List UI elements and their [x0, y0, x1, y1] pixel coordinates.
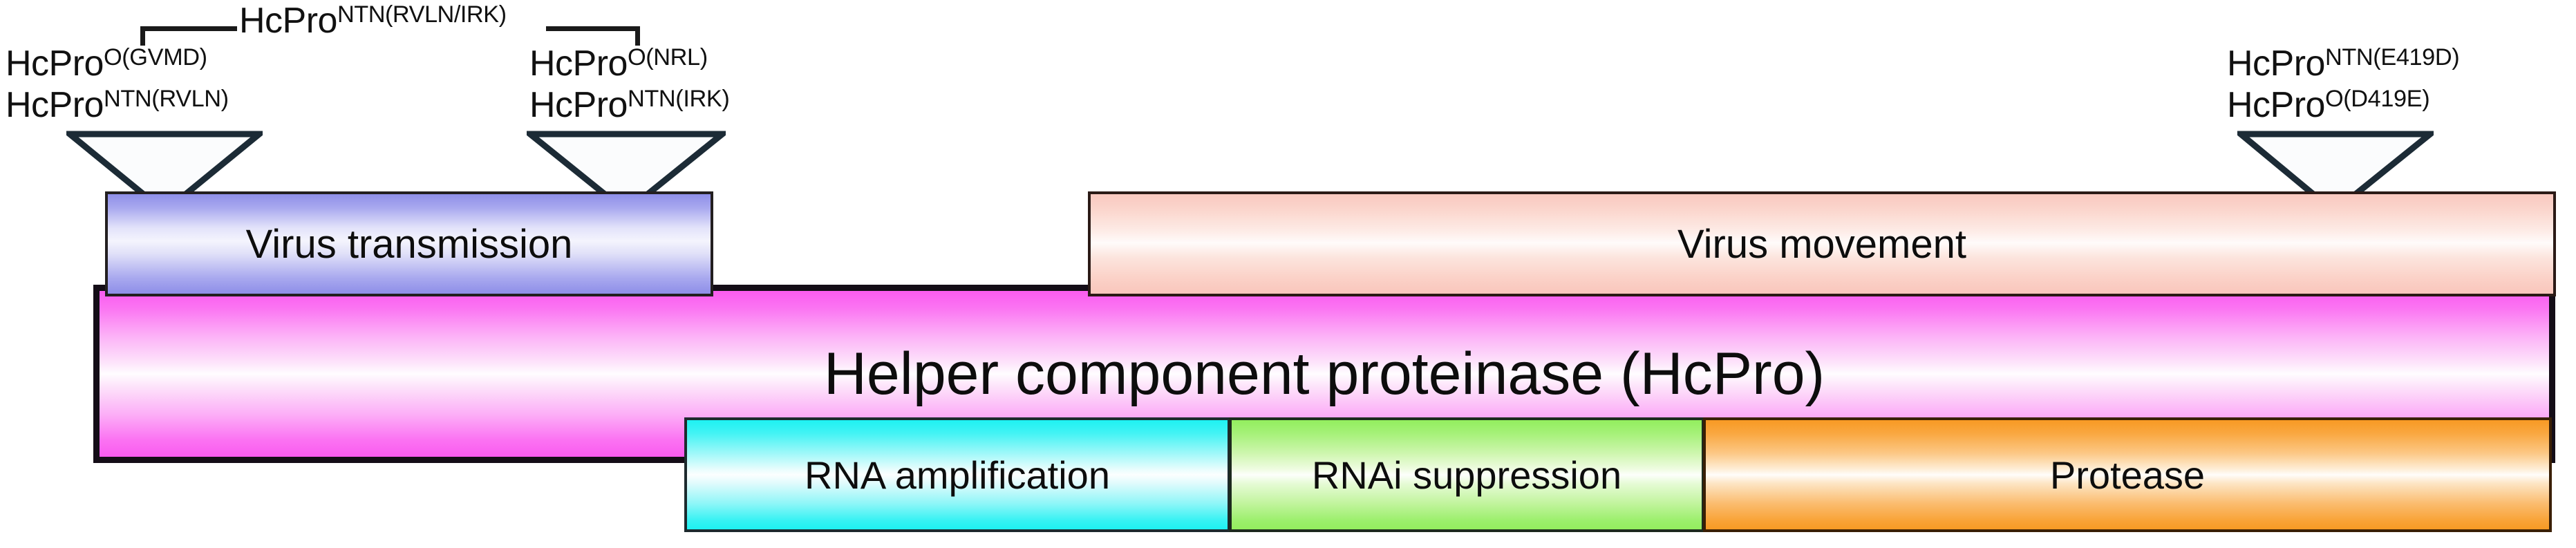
label-sup: NTN(RVLN) — [104, 86, 229, 112]
main-hcpro-bar-label: Helper component proteinase (HcPro) — [824, 340, 1825, 408]
domain-virus-transmission: Virus transmission — [105, 191, 713, 296]
label-sup: NTN(IRK) — [628, 86, 729, 112]
label-sup: O(NRL) — [628, 44, 708, 70]
mutation-label-middle-line2: HcProNTN(IRK) — [529, 84, 729, 126]
label-base: HcPro — [2227, 85, 2325, 125]
domain-rna-amplification: RNA amplification — [684, 417, 1230, 532]
mutation-label-right-line2: HcProO(D419E) — [2227, 84, 2429, 126]
domain-virus-transmission-label: Virus transmission — [246, 221, 573, 267]
domain-protease: Protease — [1703, 417, 2552, 532]
label-base: HcPro — [6, 85, 104, 125]
domain-rnai-suppression: RNAi suppression — [1229, 417, 1704, 532]
label-sup: NTN(E419D) — [2325, 44, 2459, 70]
label-sup: O(GVMD) — [104, 44, 207, 70]
hcpro-domain-diagram: HcProNTN(RVLN/IRK) HcProO(GVMD) HcProNTN… — [0, 0, 2576, 548]
bracket-label-sup: NTN(RVLN/IRK) — [337, 1, 507, 28]
bracket-horizontal-left — [140, 26, 237, 31]
mutation-label-right-line1: HcProNTN(E419D) — [2227, 43, 2459, 84]
bracket-label-base: HcPro — [239, 1, 337, 41]
domain-virus-movement: Virus movement — [1088, 191, 2556, 296]
bracket-label: HcProNTN(RVLN/IRK) — [239, 1, 507, 40]
domain-rnai-suppression-label: RNAi suppression — [1312, 453, 1621, 498]
label-base: HcPro — [2227, 44, 2325, 84]
mutation-label-left-line2: HcProNTN(RVLN) — [6, 84, 229, 126]
bracket-horizontal-right — [546, 26, 640, 31]
domain-rna-amplification-label: RNA amplification — [805, 453, 1110, 498]
label-base: HcPro — [529, 85, 628, 125]
label-base: HcPro — [529, 44, 628, 84]
label-base: HcPro — [6, 44, 104, 84]
mutation-label-left-line1: HcProO(GVMD) — [6, 43, 207, 84]
domain-virus-movement-label: Virus movement — [1677, 221, 1966, 267]
label-sup: O(D419E) — [2325, 86, 2429, 112]
mutation-label-middle-line1: HcProO(NRL) — [529, 43, 708, 84]
domain-protease-label: Protease — [2050, 453, 2205, 498]
